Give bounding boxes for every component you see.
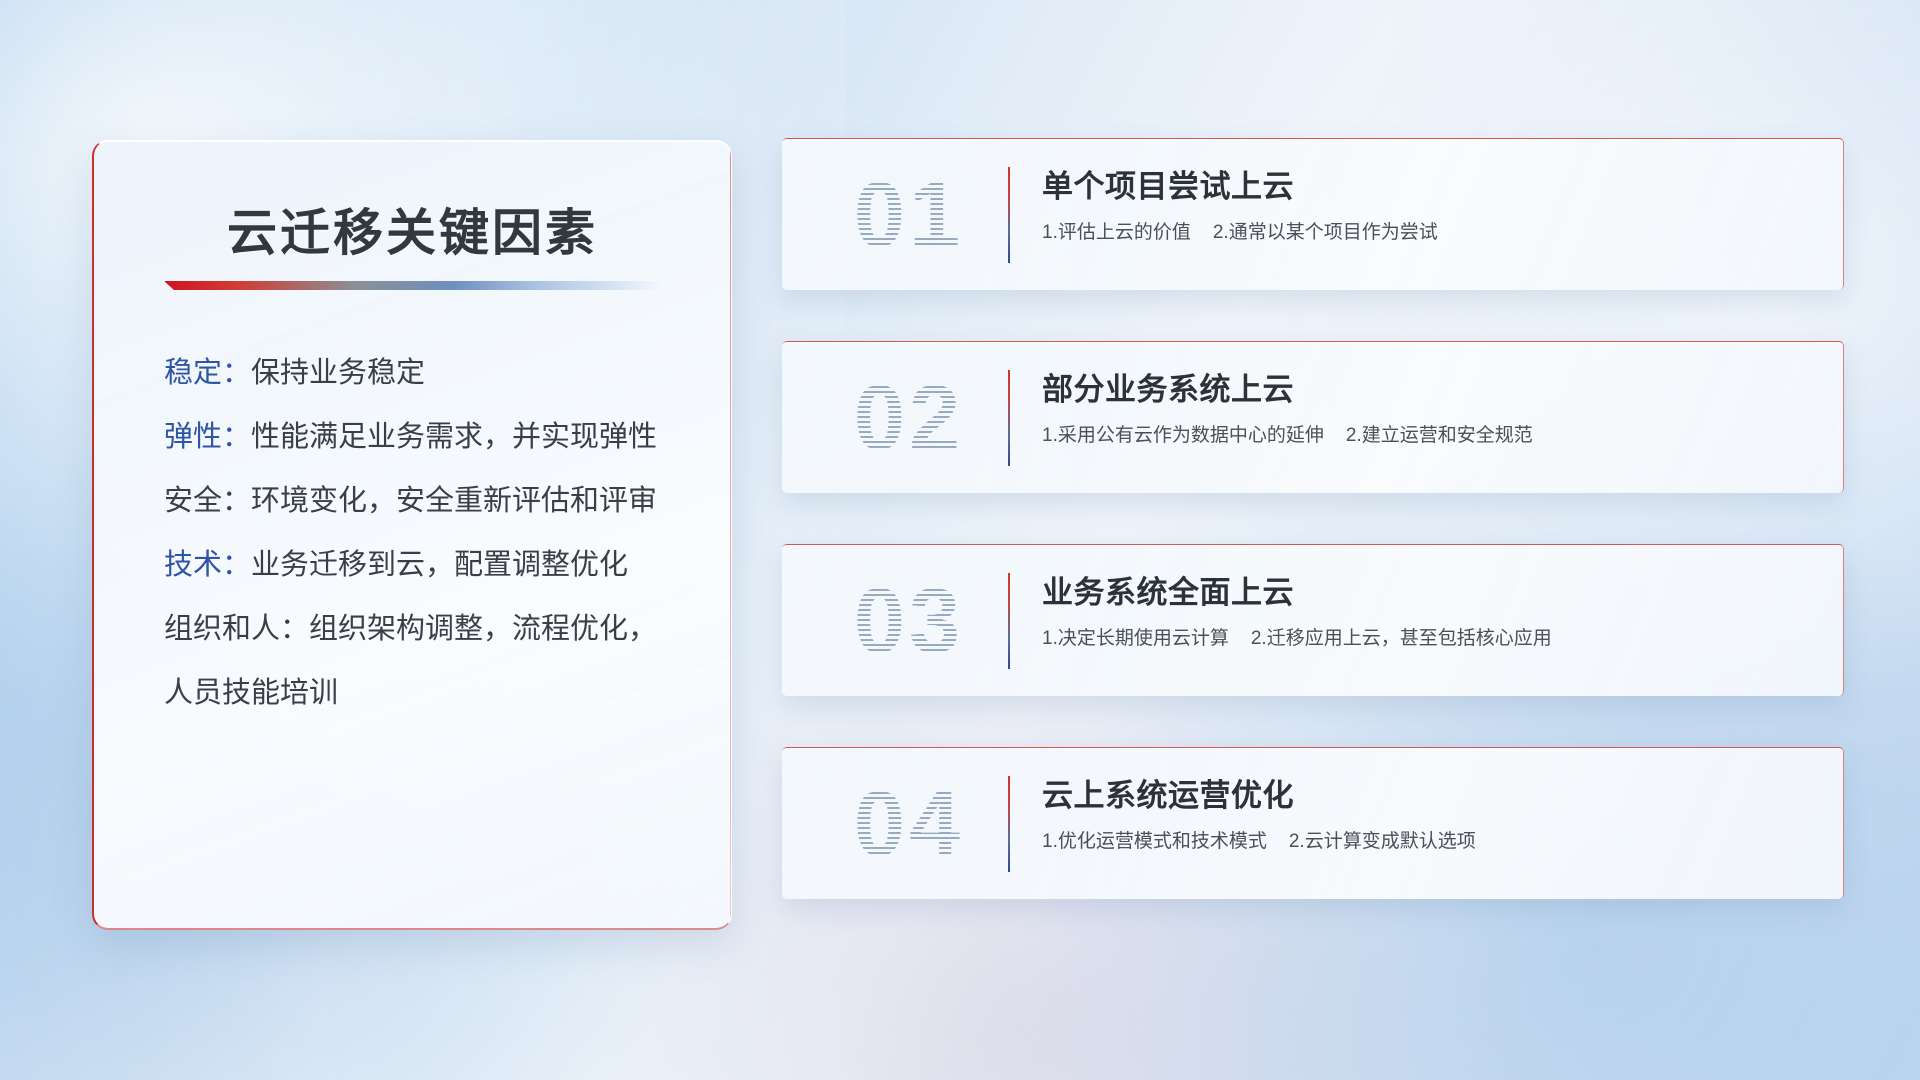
stage-number-watermark: 01 bbox=[814, 153, 1004, 277]
factor-value: 人员技能培训 bbox=[164, 677, 338, 709]
card-point-2: 2.建立运营和安全规范 bbox=[1346, 425, 1533, 446]
factor-list: 稳定：保持业务稳定弹性：性能满足业务需求，并实现弹性安全：环境变化，安全重新评估… bbox=[164, 341, 683, 725]
slide-stage: 云迁移关键因素 稳定：保持业务稳定弹性：性能满足业务需求，并实现弹性安全：环境变… bbox=[0, 0, 1920, 1080]
panel-title: 云迁移关键因素 bbox=[94, 193, 731, 265]
card-title: 部分业务系统上云 bbox=[1042, 368, 1809, 412]
card-point-1: 1.优化运营模式和技术模式 bbox=[1042, 831, 1267, 852]
stage-card[interactable]: 03业务系统全面上云1.决定长期使用云计算2.迁移应用上云，甚至包括核心应用 bbox=[782, 544, 1844, 696]
card-point-2: 2.云计算变成默认选项 bbox=[1289, 831, 1476, 852]
card-point-1: 1.采用公有云作为数据中心的延伸 bbox=[1042, 425, 1324, 446]
card-point-2: 2.通常以某个项目作为尝试 bbox=[1213, 222, 1438, 243]
stage-number-watermark: 04 bbox=[814, 762, 1004, 886]
factor-label: 安全： bbox=[164, 485, 251, 517]
stage-number-watermark: 03 bbox=[814, 559, 1004, 683]
card-description: 1.优化运营模式和技术模式2.云计算变成默认选项 bbox=[1042, 828, 1809, 856]
card-body: 业务系统全面上云1.决定长期使用云计算2.迁移应用上云，甚至包括核心应用 bbox=[1042, 571, 1809, 653]
factor-label: 技术： bbox=[164, 549, 251, 581]
stage-number-watermark: 02 bbox=[814, 356, 1004, 480]
factor-row: 组织和人：组织架构调整，流程优化， bbox=[164, 597, 683, 661]
stage-card[interactable]: 04云上系统运营优化1.优化运营模式和技术模式2.云计算变成默认选项 bbox=[782, 747, 1844, 899]
card-description: 1.评估上云的价值2.通常以某个项目作为尝试 bbox=[1042, 219, 1809, 247]
card-body: 部分业务系统上云1.采用公有云作为数据中心的延伸2.建立运营和安全规范 bbox=[1042, 368, 1809, 450]
card-title: 业务系统全面上云 bbox=[1042, 571, 1809, 615]
factor-value: 保持业务稳定 bbox=[251, 357, 425, 389]
factor-value: 业务迁移到云，配置调整优化 bbox=[251, 549, 628, 581]
card-point-1: 1.评估上云的价值 bbox=[1042, 222, 1191, 243]
factor-row: 弹性：性能满足业务需求，并实现弹性 bbox=[164, 405, 683, 469]
stage-card[interactable]: 02部分业务系统上云1.采用公有云作为数据中心的延伸2.建立运营和安全规范 bbox=[782, 341, 1844, 493]
factor-row: 人员技能培训 bbox=[164, 661, 683, 725]
card-body: 云上系统运营优化1.优化运营模式和技术模式2.云计算变成默认选项 bbox=[1042, 774, 1809, 856]
factor-row: 技术：业务迁移到云，配置调整优化 bbox=[164, 533, 683, 597]
factor-label: 弹性： bbox=[164, 421, 251, 453]
card-divider bbox=[1008, 573, 1010, 669]
card-description: 1.决定长期使用云计算2.迁移应用上云，甚至包括核心应用 bbox=[1042, 625, 1809, 653]
card-divider bbox=[1008, 776, 1010, 872]
card-point-2: 2.迁移应用上云，甚至包括核心应用 bbox=[1251, 628, 1552, 649]
card-title: 云上系统运营优化 bbox=[1042, 774, 1809, 818]
card-divider bbox=[1008, 370, 1010, 466]
card-point-1: 1.决定长期使用云计算 bbox=[1042, 628, 1229, 649]
stage-card[interactable]: 01单个项目尝试上云1.评估上云的价值2.通常以某个项目作为尝试 bbox=[782, 138, 1844, 290]
factor-row: 稳定：保持业务稳定 bbox=[164, 341, 683, 405]
card-title: 单个项目尝试上云 bbox=[1042, 165, 1809, 209]
card-divider bbox=[1008, 167, 1010, 263]
factor-label: 稳定： bbox=[164, 357, 251, 389]
card-body: 单个项目尝试上云1.评估上云的价值2.通常以某个项目作为尝试 bbox=[1042, 165, 1809, 247]
factor-value: 组织架构调整，流程优化， bbox=[309, 613, 657, 645]
key-factors-panel: 云迁移关键因素 稳定：保持业务稳定弹性：性能满足业务需求，并实现弹性安全：环境变… bbox=[92, 140, 732, 930]
factor-row: 安全：环境变化，安全重新评估和评审 bbox=[164, 469, 683, 533]
factor-value: 性能满足业务需求，并实现弹性 bbox=[251, 421, 657, 453]
title-underline-rule bbox=[164, 281, 664, 290]
card-description: 1.采用公有云作为数据中心的延伸2.建立运营和安全规范 bbox=[1042, 422, 1809, 450]
factor-value: 环境变化，安全重新评估和评审 bbox=[251, 485, 657, 517]
factor-label: 组织和人： bbox=[164, 613, 309, 645]
cloud-migration-stage-cards: 01单个项目尝试上云1.评估上云的价值2.通常以某个项目作为尝试02部分业务系统… bbox=[782, 138, 1844, 899]
